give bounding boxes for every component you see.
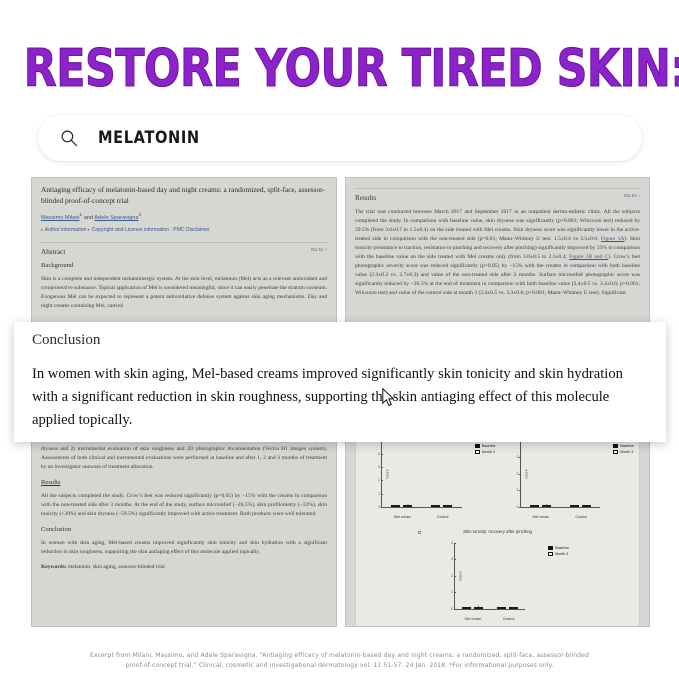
results-heading-right-label: Results (355, 194, 376, 202)
chart-panel-b: B Skin tonicity: resistance to traction (500, 428, 635, 524)
search-bar[interactable]: MELATONIN (38, 115, 642, 161)
chart-c-ytick-4: 4 (451, 541, 453, 545)
bullet-icon: ▸ (88, 227, 91, 233)
chart-a-plot: Score 0 1 2 3 4 5 (381, 441, 462, 508)
legend-swatch-month3 (548, 552, 553, 556)
chart-c-group-mel: * (462, 543, 483, 609)
search-icon (60, 129, 78, 147)
chart-a-xtick-1: Control (437, 515, 449, 519)
author-link-1[interactable]: Massimo Milani (41, 215, 80, 221)
chart-b-xtick-1: Control (575, 515, 587, 519)
chart-a-bars: * (382, 441, 462, 507)
chart-b-plot: Score 0 1 2 3 4 (520, 441, 601, 508)
legend-label-month3: Month 3 (482, 450, 495, 454)
article-title: Antiaging efficacy of melatonin-based da… (41, 185, 327, 206)
chart-a-ytick-4: 4 (378, 452, 380, 456)
legend-swatch-month3 (475, 450, 480, 454)
legend-swatch-baseline (548, 546, 553, 550)
chart-a-significance: * (407, 502, 409, 507)
legend-label-month3: Month 3 (555, 552, 568, 556)
chart-a-xticks: Mel cream Control (381, 515, 462, 519)
results-text-part3: ). Crow’s feet photographic severity sco… (355, 254, 640, 296)
chart-b-xticks: Mel cream Control (520, 515, 601, 519)
chart-panel-c: C Skin tonicity: recovery after pinching… (426, 530, 569, 626)
results-text-left: All the subjects completed the study. Cr… (41, 492, 327, 519)
chart-b-ytick-2: 2 (517, 472, 519, 476)
legend-label-baseline: Baseline (620, 444, 634, 448)
chart-b-ytick-1: 1 (517, 488, 519, 492)
legend-swatch-baseline (475, 444, 480, 448)
background-heading: Background (41, 262, 327, 269)
bullet-icon: ▸ (41, 227, 44, 233)
pmc-disclaimer-link[interactable]: PMC Disclaimer (173, 227, 210, 233)
page-title: RESTORE YOUR TIRED SKIN: (24, 0, 655, 94)
overlay-text: In women with skin aging, Mel-based crea… (32, 363, 648, 431)
chart-c-xtick-1: Control (503, 617, 515, 621)
keywords-label: Keywords: (41, 564, 67, 570)
keywords-value: melatonin, skin aging, assessor-blinded … (67, 564, 165, 570)
legend-label-month3: Month 3 (620, 450, 633, 454)
chart-c-group-control (497, 543, 518, 609)
chart-panel-a: A Dryness severity score Score 0 1 2 3 4… (361, 428, 496, 524)
copyright-link[interactable]: Copyright and License information (92, 227, 169, 233)
results-heading-left: Results (41, 479, 327, 486)
chart-a-legend: Baseline Month 3 (475, 444, 496, 454)
figure-1-image: A Dryness severity score Score 0 1 2 3 4… (355, 421, 640, 627)
chart-b-group-mel: * (530, 441, 551, 507)
conclusion-text-left: In women with skin aging, Mel-based crea… (41, 539, 327, 557)
results-text-part1: The trial was conducted between March 20… (355, 209, 640, 242)
abstract-heading-label: Abstract (41, 248, 65, 256)
chart-b-legend: Baseline Month 3 (613, 444, 634, 454)
legend-label-baseline: Baseline (555, 546, 569, 550)
legend-swatch-month3 (613, 450, 618, 454)
chart-c-xticks: Mel cream Control (454, 617, 525, 621)
chart-a-ytick-0: 0 (378, 505, 380, 509)
chart-b-xtick-0: Mel cream (533, 515, 550, 519)
chart-a-group-control (431, 441, 452, 507)
chart-c-letter: C (418, 530, 421, 535)
chart-c-ytick-0: 0 (451, 607, 453, 611)
chart-b-ytick-0: 0 (517, 505, 519, 509)
keywords: Keywords: melatonin, skin aging, assesso… (41, 564, 327, 570)
background-text: Skin is a complete and independent melat… (41, 275, 327, 311)
chart-c-plot: Score 0 1 2 3 4 (454, 543, 525, 610)
chart-c-ytick-1: 1 (451, 590, 453, 594)
search-input[interactable]: MELATONIN (98, 128, 200, 148)
abstract-heading: Abstract Go to: › (41, 242, 327, 256)
author-sup-2: 2 (138, 212, 141, 217)
chart-c-significance: * (478, 604, 480, 609)
overlay-heading: Conclusion (32, 332, 648, 349)
chart-a-ytick-3: 3 (378, 465, 380, 469)
chart-b-significance: * (546, 502, 548, 507)
goto-link[interactable]: Go to: › (624, 194, 640, 199)
chart-c-ytick-3: 3 (451, 557, 453, 561)
author-link-2[interactable]: Adele Sparavigna (94, 215, 138, 221)
results-heading-right: Results Go to: › (355, 188, 640, 202)
chart-a-ytick-2: 2 (378, 478, 380, 482)
figure-1a-link[interactable]: Figure 1A (601, 236, 625, 242)
article-authors: Massimo Milani1 and Adele Sparavigna2 (41, 212, 327, 221)
chart-b-bars: * (521, 441, 601, 507)
chart-c-bars: * (455, 543, 525, 609)
conclusion-heading-left: Conclusion (41, 526, 327, 533)
chart-b-ytick-3: 3 (517, 455, 519, 459)
chart-a-group-mel: * (391, 441, 412, 507)
author-conjunction: and (82, 215, 94, 221)
chart-c-ytick-2: 2 (451, 574, 453, 578)
chart-a-ytick-1: 1 (378, 492, 380, 496)
figure-1bc-link[interactable]: Figure 1B and C (569, 254, 608, 260)
chart-b-group-control (570, 441, 591, 507)
legend-label-baseline: Baseline (482, 444, 496, 448)
citation-text: Excerpt from Milani, Massimo, and Adele … (0, 651, 679, 671)
legend-swatch-baseline (613, 444, 618, 448)
results-paragraph: The trial was conducted between March 20… (355, 208, 640, 298)
chart-a-xtick-0: Mel cream (394, 515, 411, 519)
chart-c-title: Skin tonicity: recovery after pinching (426, 530, 569, 535)
author-information-link[interactable]: Author information (45, 227, 87, 233)
conclusion-overlay: Conclusion In women with skin aging, Mel… (14, 322, 666, 442)
article-meta-links: ▸ Author information ▸ Copyright and Lic… (41, 227, 327, 233)
chart-c-xtick-0: Mel cream (465, 617, 482, 621)
goto-link[interactable]: Go to: › (311, 248, 327, 253)
chart-c-legend: Baseline Month 3 (548, 546, 569, 556)
